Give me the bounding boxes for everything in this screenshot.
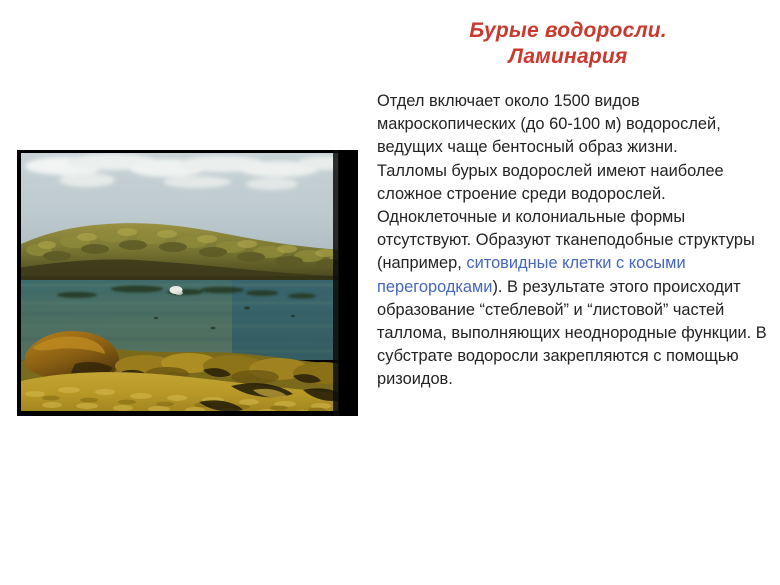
slide-body-text: Отдел включает около 1500 видов макроско… xyxy=(377,90,767,392)
kelp-shoreline-photograph xyxy=(17,150,358,416)
body-paragraph-2: Талломы бурых водорослей имеют наиболее … xyxy=(377,160,767,392)
slide-title: Бурые водоросли. Ламинария xyxy=(372,18,764,70)
photo-frame xyxy=(17,150,358,416)
slide-title-line-2: Ламинария xyxy=(372,44,764,70)
slide-title-line-1: Бурые водоросли. xyxy=(372,18,764,44)
presentation-slide: Бурые водоросли. Ламинария xyxy=(0,0,780,585)
body-paragraph-1: Отдел включает около 1500 видов макроско… xyxy=(377,90,767,160)
